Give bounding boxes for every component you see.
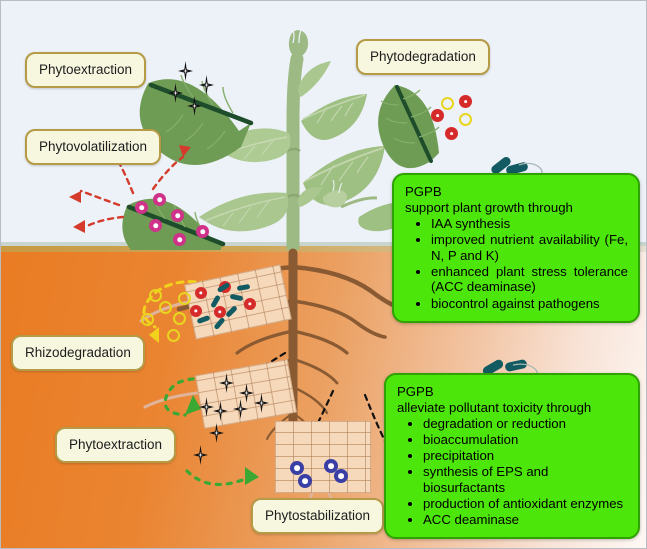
soil-aggregate-lower (275, 421, 371, 493)
list-item: degradation or reduction (423, 416, 628, 432)
list-item: ACC deaminase (423, 512, 628, 528)
list-item: improved nutrient availability (Fe, N, P… (431, 232, 628, 263)
contaminant-yellow-ring-icon (167, 329, 180, 342)
contaminant-pink-dot-icon (149, 219, 162, 232)
label-phytovolatilization[interactable]: Phytovolatilization (25, 129, 161, 165)
contaminant-yellow-ring-icon (159, 301, 172, 314)
infobox-list: degradation or reduction bioaccumulation… (397, 416, 628, 528)
contaminant-red-dot-icon (459, 95, 472, 108)
label-phytoextraction-leaf[interactable]: Phytoextraction (25, 52, 146, 88)
label-rhizodegradation[interactable]: Rhizodegradation (11, 335, 145, 371)
contaminant-blue-dot-icon (334, 469, 348, 483)
infobox-subheading: support plant growth through (405, 200, 628, 216)
list-item: precipitation (423, 448, 628, 464)
contaminant-yellow-ring-icon (141, 313, 154, 326)
contaminant-pink-dot-icon (173, 233, 186, 246)
contaminant-red-dot-icon (445, 127, 458, 140)
contaminant-red-dot-icon (244, 298, 256, 310)
label-phytostabilization[interactable]: Phytostabilization (251, 498, 384, 534)
list-item: synthesis of EPS and biosurfactants (423, 464, 628, 495)
contaminant-yellow-ring-icon (173, 312, 186, 325)
list-item: IAA synthesis (431, 216, 628, 232)
list-item: bioaccumulation (423, 432, 628, 448)
list-item: enhanced plant stress tolerance (ACC dea… (431, 264, 628, 295)
contaminant-blue-dot-icon (290, 461, 304, 475)
infobox-pgpb-pollutant-toxicity: PGPB alleviate pollutant toxicity throug… (384, 373, 640, 539)
infobox-heading: PGPB (397, 384, 628, 400)
infobox-heading: PGPB (405, 184, 628, 200)
contaminant-red-dot-icon (195, 287, 207, 299)
contaminant-pink-dot-icon (153, 193, 166, 206)
label-phytoextraction-root[interactable]: Phytoextraction (55, 427, 176, 463)
infobox-list: IAA synthesis improved nutrient availabi… (405, 216, 628, 311)
contaminant-pink-dot-icon (171, 209, 184, 222)
contaminant-blue-dot-icon (298, 474, 312, 488)
contaminant-red-dot-icon (190, 305, 202, 317)
contaminant-pink-dot-icon (196, 225, 209, 238)
contaminant-yellow-ring-icon (459, 113, 472, 126)
label-phytodegradation[interactable]: Phytodegradation (356, 39, 490, 75)
contaminant-pink-dot-icon (135, 201, 148, 214)
contaminant-red-dot-icon (431, 109, 444, 122)
contaminant-red-dot-icon (214, 306, 226, 318)
contaminant-yellow-ring-icon (149, 289, 162, 302)
list-item: biocontrol against pathogens (431, 296, 628, 312)
infobox-subheading: alleviate pollutant toxicity through (397, 400, 628, 416)
list-item: production of antioxidant enzymes (423, 496, 628, 512)
phytoremediation-figure: Phytoextraction Phytovolatilization Phyt… (0, 0, 647, 549)
contaminant-yellow-ring-icon (178, 292, 191, 305)
contaminant-yellow-ring-icon (441, 97, 454, 110)
infobox-pgpb-plant-growth: PGPB support plant growth through IAA sy… (392, 173, 640, 323)
